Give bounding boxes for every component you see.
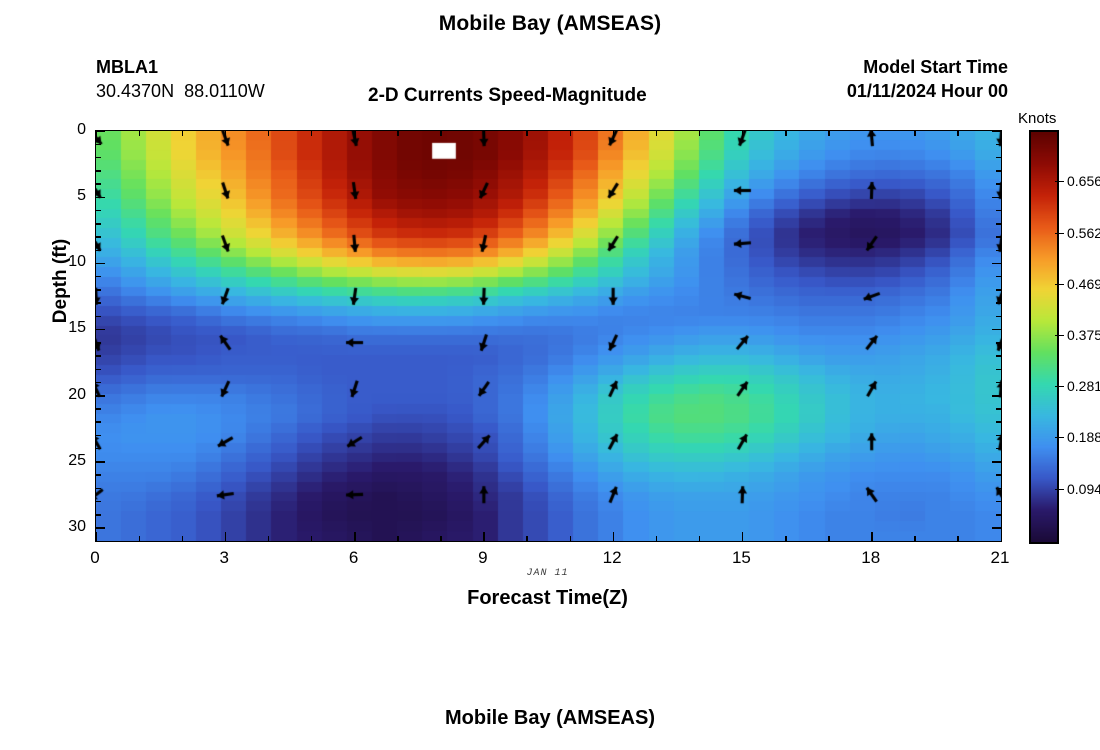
x-major-tick <box>225 131 227 140</box>
y-major-tick <box>992 197 1001 199</box>
y-major-tick <box>96 329 105 331</box>
x-minor-tick <box>828 131 830 136</box>
y-minor-tick <box>96 342 101 344</box>
x-minor-tick <box>570 131 572 136</box>
colorbar-tick <box>1055 181 1064 182</box>
x-minor-tick <box>268 131 270 136</box>
y-major-tick <box>992 395 1001 397</box>
colorbar-tick <box>1055 335 1064 336</box>
x-axis-title: Forecast Time(Z) <box>95 587 1000 610</box>
y-major-tick <box>992 461 1001 463</box>
colorbar-tick <box>1055 437 1064 438</box>
station-id: MBLA1 <box>96 56 265 80</box>
y-axis-tick-labels: 051015202530 <box>30 0 86 750</box>
x-minor-tick <box>440 131 442 136</box>
y-minor-tick <box>996 369 1001 371</box>
y-major-tick <box>96 527 105 529</box>
x-major-tick <box>483 131 485 140</box>
y-major-tick <box>992 263 1001 265</box>
model-start-value: 01/11/2024 Hour 00 <box>847 80 1008 104</box>
y-minor-tick <box>96 236 101 238</box>
x-minor-tick <box>397 536 399 541</box>
footer-title: Mobile Bay (AMSEAS) <box>0 707 1100 730</box>
y-minor-tick <box>96 316 101 318</box>
y-minor-tick <box>996 210 1001 212</box>
y-minor-tick <box>96 421 101 423</box>
y-minor-tick <box>96 210 101 212</box>
x-minor-tick <box>139 536 141 541</box>
x-minor-tick <box>570 536 572 541</box>
x-tick-label: 12 <box>603 548 622 568</box>
x-major-tick <box>613 532 615 541</box>
y-minor-tick <box>96 250 101 252</box>
colorbar: 0.6560.5620.4690.3750.2810.1880.094 <box>1029 130 1055 540</box>
colorbar-tick-label: 0.562 <box>1067 225 1100 241</box>
x-major-tick <box>742 131 744 140</box>
x-minor-tick <box>182 536 184 541</box>
y-tick-label: 5 <box>77 187 86 205</box>
page-title: Mobile Bay (AMSEAS) <box>0 12 1100 36</box>
y-minor-tick <box>96 448 101 450</box>
y-minor-tick <box>96 369 101 371</box>
y-minor-tick <box>96 183 101 185</box>
y-minor-tick <box>996 170 1001 172</box>
x-minor-tick <box>957 131 959 136</box>
model-start-info: Model Start Time 01/11/2024 Hour 00 <box>847 56 1008 104</box>
y-minor-tick <box>996 501 1001 503</box>
x-tick-label: 18 <box>861 548 880 568</box>
y-major-tick <box>96 263 105 265</box>
colorbar-tick-label: 0.656 <box>1067 173 1100 189</box>
y-minor-tick <box>996 342 1001 344</box>
y-minor-tick <box>996 488 1001 490</box>
colorbar-tick-label: 0.188 <box>1067 429 1100 445</box>
x-major-tick <box>1001 131 1003 140</box>
y-minor-tick <box>96 514 101 516</box>
x-minor-tick <box>828 536 830 541</box>
y-minor-tick <box>96 488 101 490</box>
x-minor-tick <box>397 131 399 136</box>
date-stamp: JAN 11 <box>95 568 1000 579</box>
x-minor-tick <box>656 131 658 136</box>
y-minor-tick <box>96 355 101 357</box>
x-major-tick <box>1001 532 1003 541</box>
x-minor-tick <box>699 536 701 541</box>
y-major-tick <box>96 131 105 133</box>
y-axis-title: Depth (ft) <box>50 206 72 356</box>
y-minor-tick <box>96 435 101 437</box>
y-minor-tick <box>996 474 1001 476</box>
x-minor-tick <box>914 131 916 136</box>
x-major-tick <box>613 131 615 140</box>
x-minor-tick <box>526 131 528 136</box>
x-major-tick <box>483 532 485 541</box>
x-minor-tick <box>440 536 442 541</box>
x-major-tick <box>354 532 356 541</box>
x-minor-tick <box>785 536 787 541</box>
colorbar-tick-label: 0.281 <box>1067 378 1100 394</box>
y-minor-tick <box>996 355 1001 357</box>
x-tick-label: 0 <box>90 548 99 568</box>
x-minor-tick <box>914 536 916 541</box>
y-minor-tick <box>996 250 1001 252</box>
y-tick-label: 25 <box>68 452 86 470</box>
x-minor-tick <box>139 131 141 136</box>
x-minor-tick <box>268 536 270 541</box>
x-tick-label: 21 <box>991 548 1010 568</box>
y-minor-tick <box>996 435 1001 437</box>
y-minor-tick <box>996 144 1001 146</box>
currents-speed-heatmap <box>96 131 1001 541</box>
y-minor-tick <box>996 302 1001 304</box>
y-minor-tick <box>96 223 101 225</box>
colorbar-tick-label: 0.375 <box>1067 327 1100 343</box>
colorbar-tick-label: 0.094 <box>1067 481 1100 497</box>
x-major-tick <box>871 532 873 541</box>
colorbar-tick <box>1055 233 1064 234</box>
y-minor-tick <box>996 236 1001 238</box>
colorbar-tick-label: 0.469 <box>1067 276 1100 292</box>
x-minor-tick <box>699 131 701 136</box>
y-tick-label: 0 <box>77 121 86 139</box>
x-major-tick <box>354 131 356 140</box>
station-coordinates: 30.4370N 88.0110W <box>96 80 265 104</box>
x-major-tick <box>871 131 873 140</box>
x-minor-tick <box>311 536 313 541</box>
y-major-tick <box>992 527 1001 529</box>
y-minor-tick <box>96 382 101 384</box>
x-tick-label: 3 <box>220 548 229 568</box>
y-major-tick <box>992 329 1001 331</box>
colorbar-title: Knots <box>1018 110 1056 127</box>
y-minor-tick <box>96 157 101 159</box>
x-minor-tick <box>182 131 184 136</box>
y-minor-tick <box>996 382 1001 384</box>
x-minor-tick <box>785 131 787 136</box>
y-minor-tick <box>996 276 1001 278</box>
x-tick-label: 6 <box>349 548 358 568</box>
y-minor-tick <box>996 183 1001 185</box>
x-minor-tick <box>526 536 528 541</box>
x-minor-tick <box>656 536 658 541</box>
colorbar-tick <box>1055 489 1064 490</box>
y-minor-tick <box>996 421 1001 423</box>
y-tick-label: 20 <box>68 386 86 404</box>
y-minor-tick <box>996 448 1001 450</box>
model-start-label: Model Start Time <box>847 56 1008 80</box>
y-minor-tick <box>96 289 101 291</box>
station-info: MBLA1 30.4370N 88.0110W <box>96 56 265 104</box>
y-minor-tick <box>996 289 1001 291</box>
colorbar-tick <box>1055 284 1064 285</box>
y-minor-tick <box>96 170 101 172</box>
x-major-tick <box>225 532 227 541</box>
chart-subtitle: 2-D Currents Speed-Magnitude <box>368 85 647 107</box>
x-major-tick <box>96 131 98 140</box>
x-major-tick <box>742 532 744 541</box>
x-tick-label: 9 <box>478 548 487 568</box>
x-minor-tick <box>957 536 959 541</box>
y-major-tick <box>96 197 105 199</box>
y-minor-tick <box>96 276 101 278</box>
y-tick-label: 30 <box>68 518 86 536</box>
y-minor-tick <box>96 501 101 503</box>
y-minor-tick <box>96 474 101 476</box>
heatmap-plot-area <box>95 130 1002 542</box>
x-tick-label: 15 <box>732 548 751 568</box>
y-major-tick <box>96 461 105 463</box>
y-minor-tick <box>996 408 1001 410</box>
y-minor-tick <box>96 144 101 146</box>
y-minor-tick <box>996 157 1001 159</box>
colorbar-gradient <box>1029 130 1059 544</box>
y-minor-tick <box>96 408 101 410</box>
y-minor-tick <box>996 514 1001 516</box>
y-minor-tick <box>996 316 1001 318</box>
x-major-tick <box>96 532 98 541</box>
colorbar-tick <box>1055 386 1064 387</box>
y-major-tick <box>96 395 105 397</box>
y-minor-tick <box>96 302 101 304</box>
y-minor-tick <box>996 223 1001 225</box>
x-minor-tick <box>311 131 313 136</box>
